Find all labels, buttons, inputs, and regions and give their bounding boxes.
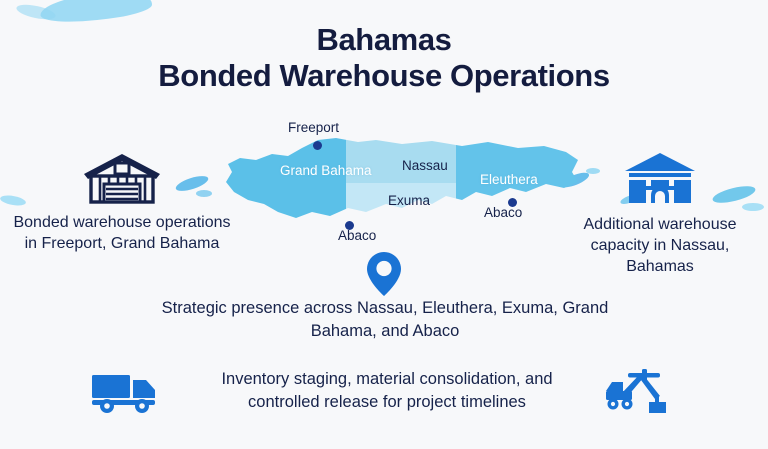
delivery-truck-icon	[90, 370, 162, 414]
warehouse-outline-icon	[12, 152, 232, 204]
map-marker-dot-abaco-east	[508, 198, 517, 207]
bahamas-map	[226, 138, 578, 242]
callout-left: Bonded warehouse operations in Freeport,…	[12, 152, 232, 254]
warehouse-solid-icon	[556, 152, 764, 204]
map-label-eleuthera: Eleuthera	[480, 172, 538, 187]
callout-center: Strategic presence across Nassau, Eleuth…	[150, 297, 620, 343]
map-region-grand-bahama	[216, 128, 346, 258]
map-label-nassau: Nassau	[402, 158, 448, 173]
map-marker-dot-freeport	[313, 141, 322, 150]
callout-left-text: Bonded warehouse operations in Freeport,…	[12, 212, 232, 254]
crane-truck-icon	[604, 368, 670, 414]
callout-bottom-text: Inventory staging, material consolidatio…	[192, 368, 582, 414]
page-title-line2: Bonded Warehouse Operations	[0, 58, 768, 94]
callout-center-text: Strategic presence across Nassau, Eleuth…	[150, 297, 620, 343]
map-city-freeport: Freeport	[288, 120, 339, 135]
map-city-abaco-south: Abaco	[338, 228, 376, 243]
map-city-abaco-east: Abaco	[484, 205, 522, 220]
callout-right: Additional warehouse capacity in Nassau,…	[556, 152, 764, 277]
map-pin-icon	[367, 252, 401, 301]
map-marker-dot-abaco-south	[345, 221, 354, 230]
infographic-canvas: Bahamas Bonded Warehouse Operations Gran…	[0, 0, 768, 449]
page-title: Bahamas Bonded Warehouse Operations	[0, 22, 768, 94]
map-label-exuma: Exuma	[388, 193, 430, 208]
map-label-grand-bahama: Grand Bahama	[280, 163, 372, 178]
callout-right-text: Additional warehouse capacity in Nassau,…	[556, 214, 764, 277]
callout-bottom: Inventory staging, material consolidatio…	[192, 368, 582, 414]
page-title-line1: Bahamas	[0, 22, 768, 58]
